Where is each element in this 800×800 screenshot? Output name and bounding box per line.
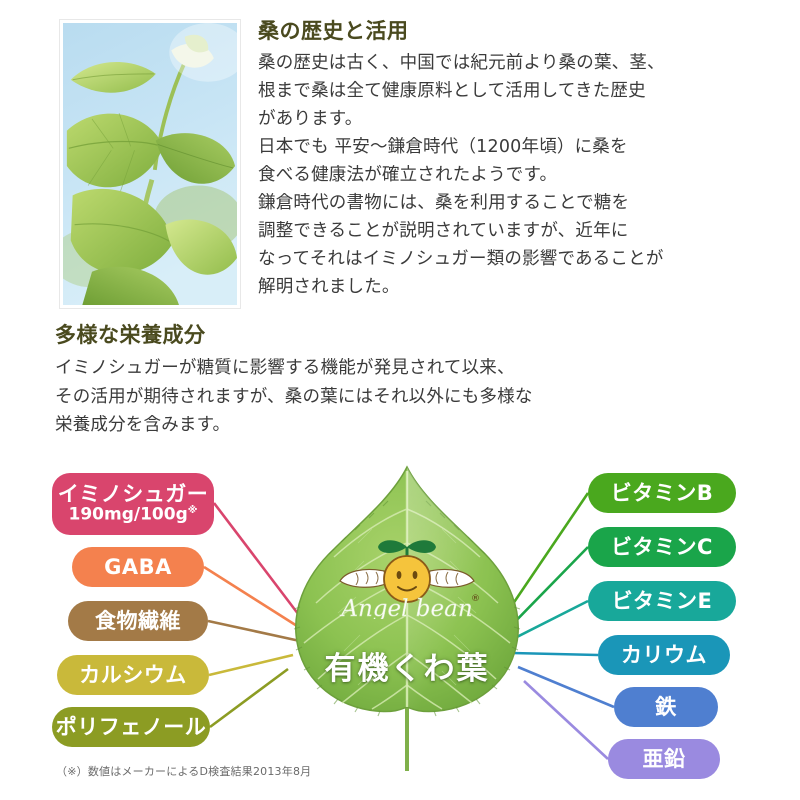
nutrients-line-1: イミノシュガーが糖質に影響する機能が発見されて以来、 [55,354,755,382]
history-line-4: 日本でも 平安〜鎌倉時代（1200年頃）に桑を [258,133,788,161]
nutrient-label-polyphenol: ポリフェノール [56,716,207,738]
nutrient-pill-dietary-fiber[interactable]: 食物繊維 [68,601,208,641]
nutrient-pill-polyphenol[interactable]: ポリフェノール [52,707,210,747]
history-line-3: があります。 [258,105,788,133]
infographic-page: 桑の歴史と活用 桑の歴史は古く、中国では紀元前より桑の葉、茎、 根まで桑は全て健… [0,0,800,800]
photo-illustration [63,23,237,305]
history-line-8: なってそれはイミノシュガー類の影響であることが [258,245,788,273]
article-nutrients: 多様な栄養成分 イミノシュガーが糖質に影響する機能が発見されて以来、 その活用が… [55,322,755,439]
nutrient-pill-calcium[interactable]: カルシウム [57,655,209,695]
history-line-2: 根まで桑は全て健康原料として活用してきた歴史 [258,77,788,105]
mulberry-leaves-photo [60,20,240,308]
history-line-5: 食べる健康法が確立されたようです。 [258,161,788,189]
nutrients-line-2: その活用が期待されますが、桑の葉にはそれ以外にも多様な [55,383,755,411]
section-body-history: 桑の歴史は古く、中国では紀元前より桑の葉、茎、 根まで桑は全て健康原料として活用… [258,49,788,301]
nutrient-label-vitamin-c: ビタミンC [611,536,713,558]
history-line-7: 調整できることが説明されていますが、近年に [258,217,788,245]
nutrient-pill-vitamin-c[interactable]: ビタミンC [588,527,736,567]
mulberry-leaf-graphic [272,457,542,775]
nutrient-pill-iminosugar[interactable]: イミノシュガー 190mg/100g※ [52,473,214,535]
nutrient-label-potassium: カリウム [621,644,707,666]
article-history: 桑の歴史と活用 桑の歴史は古く、中国では紀元前より桑の葉、茎、 根まで桑は全て健… [258,18,788,301]
nutrient-label-zinc: 亜鉛 [643,748,686,770]
nutrient-pill-zinc[interactable]: 亜鉛 [608,739,720,779]
nutrient-amount-iminosugar: 190mg/100g※ [69,506,198,525]
section-title-history: 桑の歴史と活用 [258,18,788,45]
history-line-6: 鎌倉時代の書物には、桑を利用することで糖を [258,189,788,217]
nutrient-label-dietary-fiber: 食物繊維 [95,610,181,632]
footnote: （※）数値はメーカーによるD検査結果2013年8月 [56,763,311,779]
leaf-illustration [272,457,542,775]
nutrient-diagram: Angel bean ® 有機くわ葉 イミノシュガー 190mg/100g※ G… [0,455,800,775]
nutrient-label-vitamin-b: ビタミンB [611,482,714,504]
nutrients-line-3: 栄養成分を含みます。 [55,411,755,439]
section-title-nutrients: 多様な栄養成分 [55,322,755,349]
nutrient-label-iron: 鉄 [655,696,677,718]
nutrient-pill-gaba[interactable]: GABA [72,547,204,587]
nutrient-pill-potassium[interactable]: カリウム [598,635,730,675]
nutrient-label-vitamin-e: ビタミンE [612,590,713,612]
nutrient-pill-iron[interactable]: 鉄 [614,687,718,727]
history-line-1: 桑の歴史は古く、中国では紀元前より桑の葉、茎、 [258,49,788,77]
nutrient-pill-vitamin-b[interactable]: ビタミンB [588,473,736,513]
history-line-9: 解明されました。 [258,273,788,301]
nutrient-label-calcium: カルシウム [79,664,187,686]
nutrient-label-iminosugar: イミノシュガー [58,483,209,505]
section-body-nutrients: イミノシュガーが糖質に影響する機能が発見されて以来、 その活用が期待されますが、… [55,354,755,439]
nutrient-label-gaba: GABA [104,556,172,578]
nutrient-pill-vitamin-e[interactable]: ビタミンE [588,581,736,621]
